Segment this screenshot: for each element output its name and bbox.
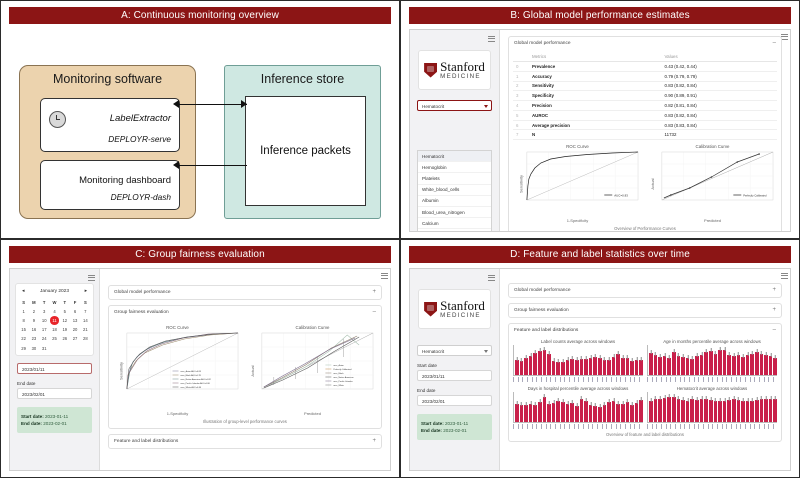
bar (561, 402, 565, 422)
x-tick (647, 424, 651, 429)
start-date-value: 2023/01/11 (422, 374, 445, 379)
panel-c: C: Group fairness evaluation ◂ January 2… (0, 239, 400, 478)
summary-end-value: 2023-02-01 (443, 428, 467, 433)
col-values: Values (662, 52, 777, 62)
calendar-day[interactable]: 25 (50, 335, 59, 343)
x-tick (550, 424, 554, 429)
bar (737, 400, 741, 422)
roc-chart-title: ROC Curve (513, 144, 642, 149)
row-index: 4 (513, 101, 529, 111)
accordion-header[interactable]: Feature and label distributions + (109, 435, 381, 448)
panel-a-diagram: Monitoring software LabelExtractor DEPLO… (11, 31, 389, 230)
calendar-day[interactable]: 5 (60, 307, 69, 315)
bar (603, 405, 607, 422)
calendar-day[interactable]: 29 (19, 344, 28, 352)
accordion-label: Group fairness evaluation (514, 308, 569, 313)
bar (704, 399, 708, 422)
bar (630, 361, 634, 375)
monitoring-software-label: Monitoring software (20, 72, 195, 86)
subchart-age-months: Age in months percentile average across … (647, 339, 777, 382)
bar (616, 404, 620, 422)
x-tick (578, 424, 582, 429)
bar (654, 355, 658, 375)
dropdown-option[interactable]: Carbon_dioxide (418, 229, 491, 232)
accordion-toggle-icon[interactable]: + (772, 287, 776, 293)
x-tick (656, 424, 660, 429)
x-tick (745, 377, 749, 382)
subchart-label-counts: Label counts average across windows (513, 339, 643, 382)
calendar-day[interactable]: 15 (19, 326, 28, 334)
table-row: 4 Precision 0.82 (0.81, 0.84) (513, 101, 777, 111)
bar (533, 353, 537, 375)
svg-text:race_White: race_White (333, 384, 344, 387)
logo-medicine-text: MEDICINE (440, 313, 485, 319)
x-tick (740, 424, 744, 429)
x-tick (717, 424, 721, 429)
end-date-label: End date (17, 381, 92, 386)
calendar-day[interactable]: 13 (70, 316, 79, 324)
x-tick (694, 424, 698, 429)
calendar-month-label: January 2023 (40, 289, 69, 294)
bar (556, 362, 560, 375)
subchart-title: Label counts average across windows (513, 339, 643, 344)
x-tick (759, 424, 763, 429)
bar (760, 354, 764, 375)
bar (529, 356, 533, 376)
calendar-day[interactable]: 2 (29, 307, 38, 315)
calendar-day[interactable]: 21 (81, 326, 90, 334)
start-date-input[interactable]: 2023/01/11 (17, 363, 92, 374)
svg-text:race_Pacific Islander AUC=0.86: race_Pacific Islander AUC=0.86 (180, 382, 210, 385)
svg-text:race_Native American: race_Native American (333, 376, 354, 379)
end-date-input[interactable]: 2023/02/01 (17, 388, 92, 399)
bar (584, 359, 588, 375)
calendar-day[interactable]: 24 (40, 335, 49, 343)
x-tick (606, 377, 610, 382)
x-tick (736, 424, 740, 429)
bar (732, 356, 736, 375)
calibration-chart: Calibration Curve Actual (648, 144, 777, 223)
x-tick (625, 424, 629, 429)
date-range-summary: Start date: 2023-01-11 End date: 2023-02… (417, 414, 492, 440)
summary-start-row: Start date: 2023-01-11 (421, 421, 488, 426)
x-tick (541, 377, 545, 382)
dropdown-option[interactable]: Albumin (418, 196, 491, 207)
accordion-group-fairness[interactable]: Group fairness evaluation + (508, 303, 782, 318)
bar (773, 358, 777, 375)
bar-series (647, 392, 777, 423)
lab-select[interactable]: Hematocrit (417, 100, 492, 111)
table-row: 0 Prevalence 0.43 (0.42, 0.44) (513, 62, 777, 72)
x-tick (768, 377, 772, 382)
summary-end-label: End date: (421, 428, 442, 433)
start-date-input[interactable]: 2023/01/11 (417, 370, 492, 381)
calendar-prev-icon[interactable]: ◂ (22, 289, 24, 294)
dropdown-option[interactable]: Platelets (418, 173, 491, 184)
bar (538, 402, 542, 422)
x-tick (661, 424, 665, 429)
calendar-day[interactable]: 30 (29, 344, 38, 352)
panel-c-dashboard: ◂ January 2023 ▸ S M T W T F S 1 2 (9, 268, 391, 471)
x-tick (522, 424, 526, 429)
table-row: 1 Accuracy 0.79 (0.79, 0.79) (513, 71, 777, 81)
panel-a: A: Continuous monitoring overview Monito… (0, 0, 400, 239)
x-tick (569, 377, 573, 382)
bar (589, 358, 593, 375)
x-tick (652, 424, 656, 429)
sidebar-collapse-icon[interactable] (88, 273, 95, 280)
x-tick (569, 424, 573, 429)
x-tick (712, 424, 716, 429)
main-menu-icon[interactable] (381, 271, 388, 278)
inference-packets-label: Inference packets (246, 145, 365, 157)
group-roc-chart: ROC Curve Sensitivity (113, 325, 242, 416)
bar (552, 361, 556, 375)
svg-text:race_Black AUC=0.78: race_Black AUC=0.78 (180, 374, 201, 377)
x-tick (527, 377, 531, 382)
calendar-day[interactable]: 16 (29, 326, 38, 334)
panel-d-title: D: Feature and label statistics over tim… (409, 246, 791, 263)
accordion-header[interactable]: Feature and label distributions – (509, 324, 781, 337)
bar (649, 401, 653, 423)
calendar-day[interactable]: 17 (40, 326, 49, 334)
accordion-global-performance[interactable]: Global model performance + (508, 283, 782, 298)
x-tick (616, 424, 620, 429)
x-tick (560, 424, 564, 429)
bar (570, 359, 574, 375)
calendar-day[interactable]: 7 (81, 307, 90, 315)
bar (700, 355, 704, 375)
accordion-toggle-icon[interactable]: + (372, 438, 376, 444)
x-tick (740, 377, 744, 382)
bar (755, 400, 759, 422)
panel-b: B: Global model performance estimates St… (400, 0, 800, 239)
lab-select[interactable]: Hematocrit (417, 345, 492, 356)
bar (598, 358, 602, 375)
accordion-header[interactable]: Group fairness evaluation + (509, 304, 781, 317)
calendar-day[interactable]: 26 (60, 335, 69, 343)
panel-c-charts: ROC Curve Sensitivity (113, 325, 377, 416)
x-tick (675, 424, 679, 429)
bar (727, 400, 731, 422)
bar (635, 360, 639, 375)
accordion-body: Metrics Values 0 Prevalence 0.43 (0.42, … (509, 50, 781, 232)
date-picker-calendar[interactable]: ◂ January 2023 ▸ S M T W T F S 1 2 (15, 283, 94, 356)
x-tick (611, 424, 615, 429)
bar (760, 399, 764, 422)
group-cal-xlabel: Predicted (248, 411, 377, 416)
x-tick (731, 377, 735, 382)
table-header-row: Metrics Values (513, 52, 777, 62)
subchart-hematocrit: Hematocrit average across windows (647, 386, 777, 429)
bar (649, 353, 653, 375)
calendar-day[interactable]: 12 (60, 316, 69, 324)
x-tick (773, 377, 777, 382)
calendar-day[interactable]: 4 (50, 307, 59, 315)
panel-b-sidebar: Stanford MEDICINE Hematocrit Hematocrit … (410, 30, 500, 231)
row-index: 0 (513, 62, 529, 72)
bar (552, 403, 556, 422)
dropdown-option[interactable]: Hematocrit (418, 151, 491, 162)
bar (714, 401, 718, 423)
cal-chart-title: Calibration Curve (648, 144, 777, 149)
x-tick (560, 377, 564, 382)
dropdown-option[interactable]: Calcium (418, 218, 491, 229)
x-tick (722, 424, 726, 429)
calendar-day[interactable]: 27 (70, 335, 79, 343)
end-date-input[interactable]: 2023/02/01 (417, 395, 492, 406)
main-menu-icon[interactable] (781, 271, 788, 278)
bar (603, 360, 607, 375)
bar (515, 404, 519, 422)
dropdown-option[interactable]: White_blood_cells (418, 185, 491, 196)
logo-medicine-text: MEDICINE (440, 74, 485, 80)
bar (593, 406, 597, 422)
bar (677, 399, 681, 422)
row-metric: Prevalence (529, 62, 662, 72)
x-tick (532, 377, 536, 382)
dropdown-option[interactable]: Hemoglobin (418, 162, 491, 173)
accordion-toggle-icon[interactable]: – (373, 309, 376, 315)
x-tick (731, 424, 735, 429)
calendar-day[interactable]: 23 (29, 335, 38, 343)
x-tick (616, 377, 620, 382)
bar (686, 401, 690, 423)
dow-label: T (60, 298, 69, 306)
x-tick (652, 377, 656, 382)
dow-label: F (70, 298, 79, 306)
calendar-day[interactable]: 14 (81, 316, 90, 324)
bar (639, 400, 643, 422)
x-tick (726, 377, 730, 382)
calendar-next-icon[interactable]: ▸ (85, 289, 87, 294)
calendar-day[interactable]: 3 (40, 307, 49, 315)
bar (626, 402, 630, 422)
lab-select-value: Hematocrit (422, 104, 444, 109)
accordion-toggle-icon[interactable]: – (773, 40, 776, 46)
bar (570, 403, 574, 422)
calendar-day[interactable]: 10 (40, 316, 49, 324)
accordion-feature-label[interactable]: Feature and label distributions + (108, 434, 382, 449)
bar (667, 358, 671, 375)
calendar-day[interactable]: 6 (70, 307, 79, 315)
x-tick (630, 377, 634, 382)
bar (709, 351, 713, 375)
row-metric: Average precision (529, 120, 662, 130)
bar (667, 397, 671, 422)
bar (561, 362, 565, 375)
svg-text:race_Asian: race_Asian (333, 364, 344, 367)
accordion-global-performance[interactable]: Global model performance – Metrics Value… (508, 36, 782, 232)
summary-start-label: Start date: (21, 414, 44, 419)
calendar-header: ◂ January 2023 ▸ (19, 287, 90, 298)
calendar-day[interactable]: 1 (19, 307, 28, 315)
bar (547, 354, 551, 375)
x-tick (592, 377, 596, 382)
x-tick (518, 377, 522, 382)
bar (580, 399, 584, 422)
bar (520, 405, 524, 422)
row-value: 0.43 (0.42, 0.44) (662, 62, 777, 72)
calendar-day-selected[interactable]: 11 (50, 316, 59, 324)
x-tick (513, 377, 517, 382)
svg-text:race_White AUC=0.85: race_White AUC=0.85 (180, 386, 201, 389)
x-tick (750, 377, 754, 382)
calendar-day[interactable]: 18 (50, 326, 59, 334)
x-tick (670, 377, 674, 382)
bar (764, 399, 768, 422)
chevron-down-icon (484, 350, 488, 353)
stanford-shield-icon (424, 302, 437, 317)
row-metric: Sensitivity (529, 81, 662, 91)
bar (575, 406, 579, 422)
inference-packets-box: Inference packets (245, 96, 366, 206)
summary-end-value: 2023-02-01 (43, 421, 67, 426)
dropdown-option[interactable]: Blood_urea_nitrogen (418, 207, 491, 218)
x-tick (634, 377, 638, 382)
table-row: 6 Average precision 0.83 (0.83, 0.84) (513, 120, 777, 130)
accordion-group-fairness[interactable]: Group fairness evaluation – ROC Curve Se… (108, 305, 382, 429)
stanford-shield-icon (424, 63, 437, 78)
bar (538, 351, 542, 375)
lab-select-dropdown[interactable]: Hematocrit Hemoglobin Platelets White_bl… (417, 150, 492, 232)
svg-text:Perfectly Calibrated: Perfectly Calibrated (743, 194, 767, 198)
x-tick (773, 424, 777, 429)
summary-end-row: End date: 2023-02-01 (421, 428, 488, 433)
bar-series (513, 345, 643, 376)
calendar-day[interactable]: 22 (19, 335, 28, 343)
x-tick (666, 377, 670, 382)
accordion-global-performance[interactable]: Global model performance + (108, 285, 382, 300)
arrow-head-dashboard-icon (173, 161, 179, 169)
date-range-summary: Start date: 2023-01-11 End date: 2023-02… (17, 407, 92, 433)
calendar-day[interactable]: 19 (60, 326, 69, 334)
svg-text:Perfectly Calibrated: Perfectly Calibrated (333, 368, 352, 371)
row-value: 0.82 (0.81, 0.84) (662, 101, 777, 111)
bar (663, 398, 667, 422)
accordion-header[interactable]: Group fairness evaluation – (109, 306, 381, 319)
panel-d-main: Global model performance + Group fairnes… (500, 269, 790, 470)
bar (529, 404, 533, 422)
x-tick (703, 424, 707, 429)
x-tick-labels (647, 377, 777, 382)
row-metric: Precision (529, 101, 662, 111)
accordion-header[interactable]: Global model performance + (109, 286, 381, 299)
accordion-header[interactable]: Global model performance + (509, 284, 781, 297)
accordion-label: Feature and label distributions (514, 328, 578, 333)
x-tick (522, 377, 526, 382)
bar (727, 355, 731, 375)
x-tick (602, 377, 606, 382)
x-tick (656, 377, 660, 382)
calendar-day[interactable]: 8 (19, 316, 28, 324)
x-tick (764, 424, 768, 429)
summary-end-row: End date: 2023-02-01 (21, 421, 88, 426)
row-value: 0.79 (0.79, 0.79) (662, 71, 777, 81)
cal-xlabel: Predicted (648, 218, 777, 223)
bar (607, 360, 611, 375)
col-index (513, 52, 529, 62)
svg-text:race_Native American AUC=0.82: race_Native American AUC=0.82 (180, 378, 211, 381)
calendar-day[interactable]: 31 (40, 344, 49, 352)
bar (589, 405, 593, 422)
bar (612, 357, 616, 375)
x-tick (583, 377, 587, 382)
group-roc-xlabel: 1-Specificity (113, 411, 242, 416)
col-metrics: Metrics (529, 52, 662, 62)
subchart-title: Days in hospital percentile average acro… (513, 386, 643, 391)
accordion-label: Group fairness evaluation (114, 310, 169, 315)
group-roc-title: ROC Curve (113, 325, 242, 330)
x-tick (694, 377, 698, 382)
bar (746, 355, 750, 375)
start-date-label: Start date (417, 363, 492, 368)
bar-series (513, 392, 643, 423)
bar (723, 350, 727, 375)
row-metric: Accuracy (529, 71, 662, 81)
bar (598, 407, 602, 422)
sidebar-collapse-icon[interactable] (488, 273, 495, 280)
calendar-day[interactable]: 9 (29, 316, 38, 324)
x-tick (750, 424, 754, 429)
x-tick (602, 424, 606, 429)
accordion-feature-label[interactable]: Feature and label distributions – Label … (508, 323, 782, 442)
bar (750, 401, 754, 423)
bar (690, 399, 694, 422)
x-tick (684, 424, 688, 429)
main-menu-icon[interactable] (781, 32, 788, 39)
bar (686, 358, 690, 375)
x-tick (574, 377, 578, 382)
bar (741, 357, 745, 375)
subchart-title: Age in months percentile average across … (647, 339, 777, 344)
x-tick (689, 424, 693, 429)
label-extractor-box: LabelExtractor DEPLOYR-serve (40, 98, 180, 152)
svg-text:race_Black: race_Black (333, 372, 344, 375)
x-tick (684, 377, 688, 382)
metrics-table: Metrics Values 0 Prevalence 0.43 (0.42, … (513, 52, 777, 140)
accordion-toggle-icon[interactable]: – (773, 327, 776, 333)
row-value: 11732 (662, 130, 777, 140)
row-metric: N (529, 130, 662, 140)
x-tick (574, 424, 578, 429)
accordion-toggle-icon[interactable]: + (772, 307, 776, 313)
bar (593, 357, 597, 375)
panel-b-dashboard: Stanford MEDICINE Hematocrit Hematocrit … (409, 29, 791, 232)
calendar-day[interactable]: 20 (70, 326, 79, 334)
x-tick (708, 424, 712, 429)
accordion-header[interactable]: Global model performance – (509, 37, 781, 50)
bar (672, 352, 676, 375)
x-tick (536, 424, 540, 429)
row-value: 0.83 (0.83, 0.84) (662, 120, 777, 130)
bar (515, 360, 519, 375)
bar (695, 400, 699, 422)
x-tick (620, 377, 624, 382)
row-index: 7 (513, 130, 529, 140)
bar (764, 355, 768, 375)
calendar-grid[interactable]: S M T W T F S 1 2 3 4 5 6 7 8 (19, 298, 90, 352)
sidebar-collapse-icon[interactable] (488, 34, 495, 41)
calendar-day[interactable]: 28 (81, 335, 90, 343)
accordion-toggle-icon[interactable]: + (372, 289, 376, 295)
panel-c-main: Global model performance + Group fairnes… (100, 269, 390, 470)
monitoring-dashboard-name: Monitoring dashboard (41, 175, 171, 186)
x-tick (670, 424, 674, 429)
accordion-body: ROC Curve Sensitivity (109, 319, 381, 428)
bar (575, 360, 579, 375)
inference-store-group: Inference store Inference packets (224, 65, 381, 219)
